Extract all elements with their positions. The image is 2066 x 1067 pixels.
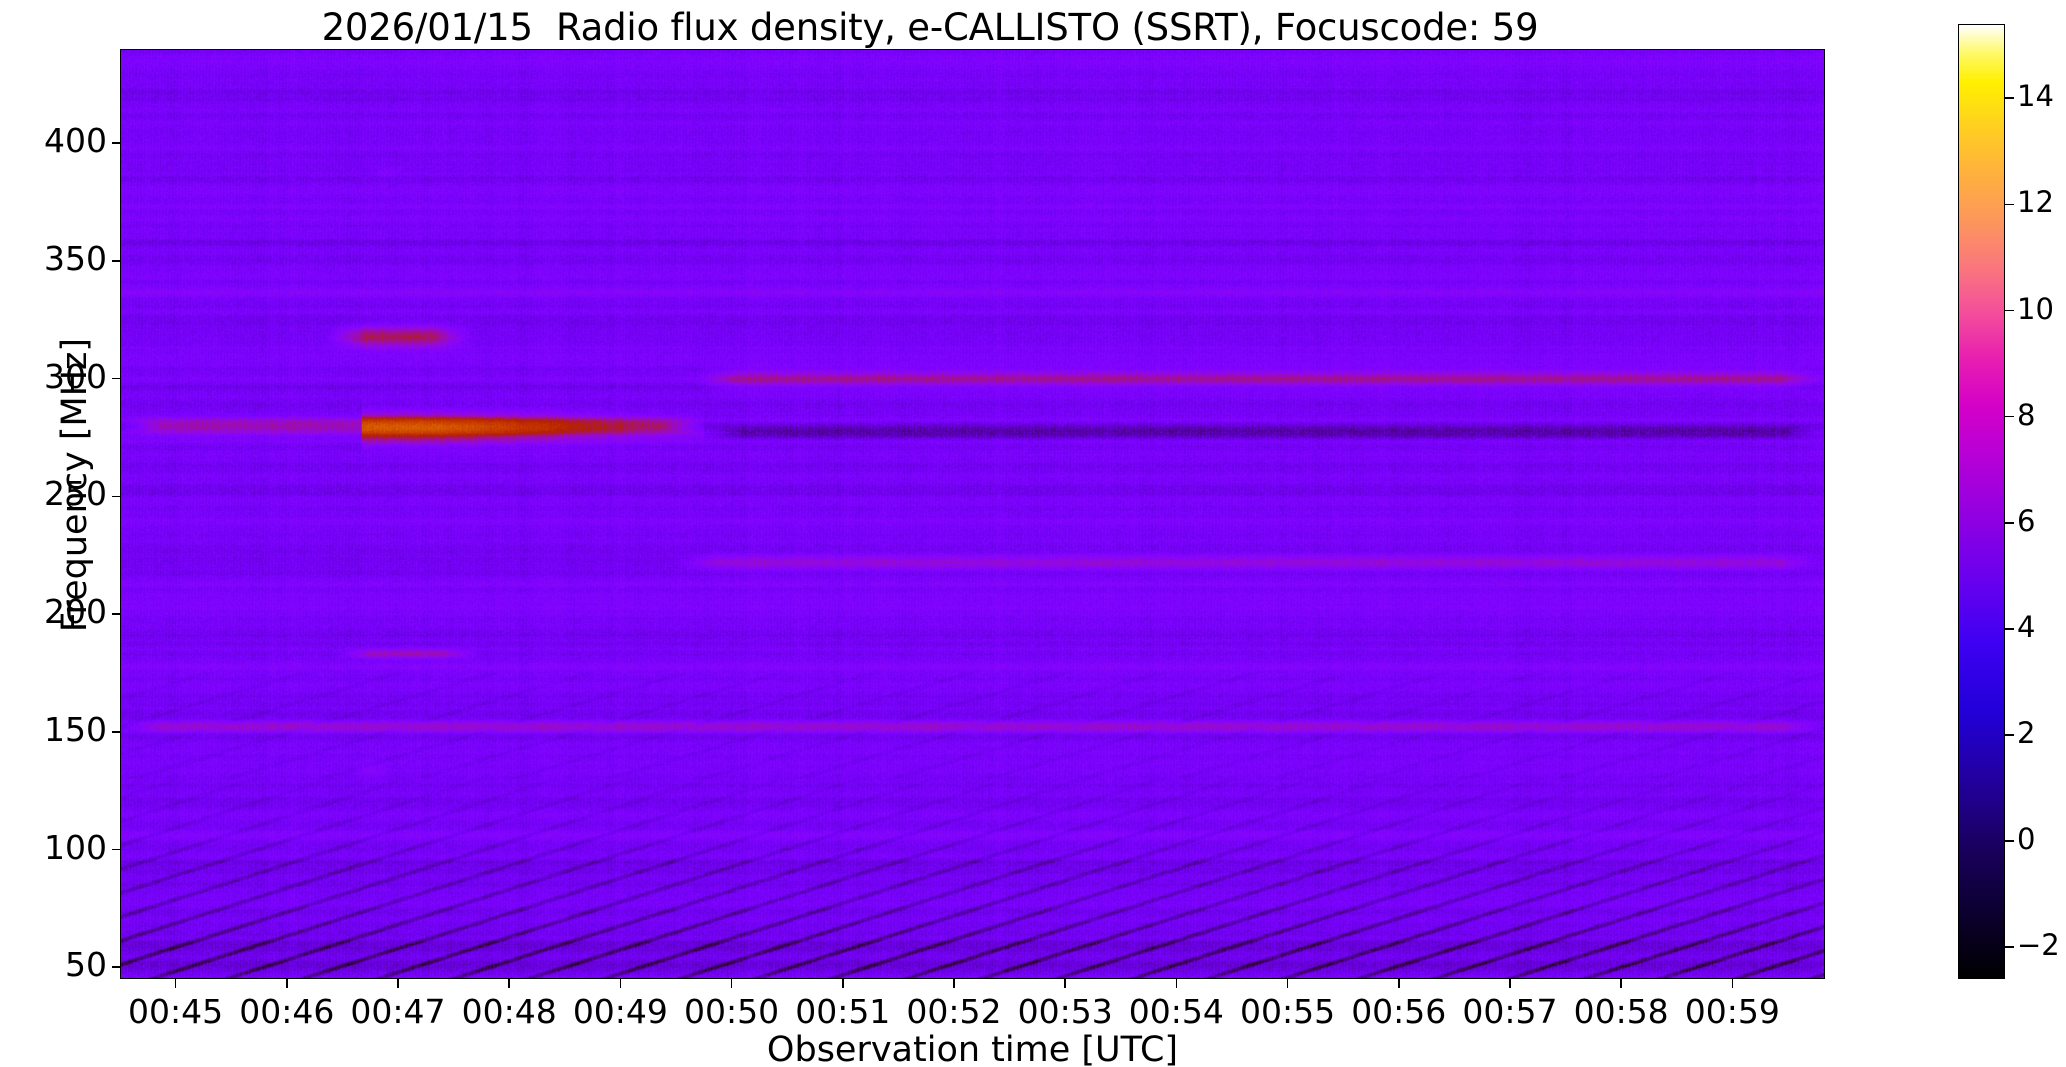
colorbar	[1958, 24, 2005, 979]
x-tick-mark	[1620, 979, 1622, 988]
colorbar-tick-mark	[2005, 416, 2014, 418]
colorbar-tick-mark	[2005, 204, 2014, 206]
colorbar-tick-mark	[2005, 310, 2014, 312]
colorbar-tick-label: 14	[2017, 79, 2054, 113]
colorbar-tick-label: 6	[2017, 504, 2035, 538]
x-tick-mark	[620, 979, 622, 988]
x-tick-mark	[397, 979, 399, 988]
x-tick-mark	[286, 979, 288, 988]
spectrogram-image	[121, 50, 1824, 978]
colorbar-tick-mark	[2005, 522, 2014, 524]
x-tick-mark	[842, 979, 844, 988]
y-tick-mark	[112, 496, 121, 498]
y-tick-mark	[112, 378, 121, 380]
spectrogram-figure: 2026/01/15 Radio flux density, e-CALLIST…	[0, 0, 2066, 1067]
y-tick-mark	[112, 613, 121, 615]
colorbar-tick-label: 12	[2017, 185, 2054, 219]
x-tick-mark	[508, 979, 510, 988]
x-tick-mark	[1398, 979, 1400, 988]
x-tick-mark	[1732, 979, 1734, 988]
x-tick-label: 00:59	[1652, 992, 1812, 1031]
y-tick-mark	[112, 260, 121, 262]
page-title: 2026/01/15 Radio flux density, e-CALLIST…	[0, 6, 1860, 49]
y-axis-title: Frequency [MHz]	[55, 235, 95, 735]
x-tick-mark	[731, 979, 733, 988]
colorbar-tick-mark	[2005, 840, 2014, 842]
x-tick-mark	[953, 979, 955, 988]
x-tick-mark	[1287, 979, 1289, 988]
y-tick-mark	[112, 731, 121, 733]
colorbar-tick-label: −2	[2017, 928, 2060, 962]
y-tick-mark	[112, 849, 121, 851]
x-tick-mark	[1176, 979, 1178, 988]
colorbar-tick-mark	[2005, 97, 2014, 99]
spectrogram-plot-area	[120, 49, 1825, 979]
colorbar-tick-mark	[2005, 628, 2014, 630]
x-tick-mark	[1509, 979, 1511, 988]
x-tick-mark	[1064, 979, 1066, 988]
y-tick-mark	[112, 142, 121, 144]
y-tick-label: 50	[12, 945, 107, 984]
colorbar-tick-mark	[2005, 734, 2014, 736]
y-tick-mark	[112, 966, 121, 968]
x-tick-mark	[175, 979, 177, 988]
colorbar-tick-label: 10	[2017, 292, 2054, 326]
colorbar-tick-mark	[2005, 946, 2014, 948]
colorbar-tick-label: 2	[2017, 716, 2035, 750]
y-tick-label: 400	[12, 121, 107, 160]
colorbar-tick-label: 0	[2017, 822, 2035, 856]
colorbar-tick-label: 4	[2017, 610, 2035, 644]
colorbar-tick-label: 8	[2017, 398, 2035, 432]
y-tick-label: 100	[12, 828, 107, 867]
x-axis-title: Observation time [UTC]	[120, 1030, 1825, 1067]
